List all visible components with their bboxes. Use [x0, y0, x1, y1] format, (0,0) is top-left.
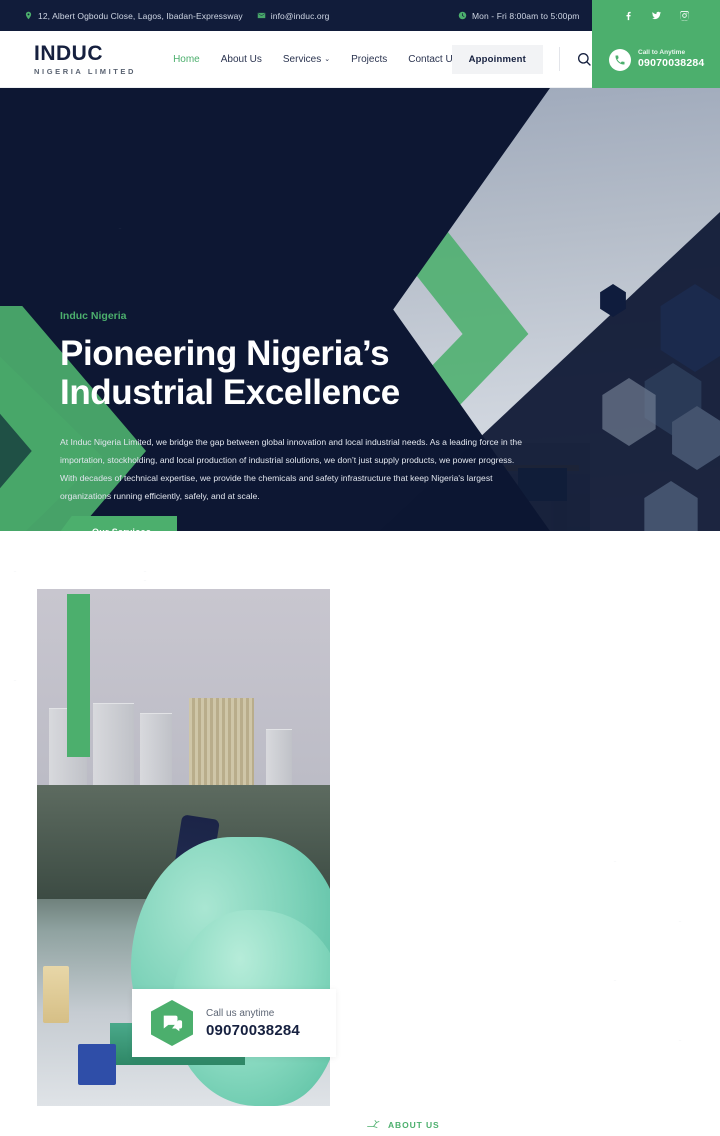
- hero-paragraph: At Induc Nigeria Limited, we bridge the …: [60, 434, 530, 505]
- site-logo[interactable]: INDUC NIGERIA LIMITED: [0, 43, 136, 76]
- address-text: 12, Albert Ogbodu Close, Lagos, Ibadan-E…: [38, 11, 243, 21]
- facebook-icon[interactable]: [623, 10, 634, 21]
- call-us-card[interactable]: Call us anytime 09070038284: [132, 989, 336, 1057]
- hero-title-line-1: Pioneering Nigeria’s: [60, 334, 530, 373]
- map-pin-icon: [24, 11, 33, 20]
- nav-actions: Appoinment: [452, 45, 592, 74]
- nav-item-contact-us[interactable]: Contact Us: [408, 54, 457, 65]
- main-navbar: INDUC NIGERIA LIMITED Home About Us Serv…: [0, 31, 720, 88]
- about-text-column: ABOUT US Pioneering Nigeria’s Industrial…: [367, 1119, 667, 1136]
- flask-line-icon: [367, 1119, 381, 1130]
- nav-item-services[interactable]: Services ⌄: [283, 54, 330, 65]
- call-card-text: Call us anytime 09070038284: [206, 1008, 300, 1039]
- hero-section: Induc Nigeria Pioneering Nigeria’s Indus…: [0, 88, 720, 531]
- envelope-icon: [257, 11, 266, 20]
- email-text: info@induc.org: [271, 11, 330, 21]
- call-card-label: Call us anytime: [206, 1008, 300, 1019]
- our-services-button[interactable]: Our Services: [60, 516, 177, 531]
- about-eyebrow: ABOUT US: [367, 1119, 667, 1130]
- nav-label: Home: [173, 54, 200, 65]
- search-icon[interactable]: [576, 51, 592, 67]
- instagram-icon[interactable]: [679, 10, 690, 21]
- chevron-down-icon: ⌄: [324, 56, 330, 63]
- nav-item-home[interactable]: Home: [173, 54, 200, 65]
- nav-call-text: Call to Anytime 09070038284: [638, 49, 704, 70]
- top-bar-contact-group: 12, Albert Ogbodu Close, Lagos, Ibadan-E…: [0, 11, 329, 21]
- hero-title-line-2: Industrial Excellence: [60, 373, 530, 412]
- top-bar-hours: Mon - Fri 8:00am to 5:00pm: [458, 11, 579, 21]
- hero-title: Pioneering Nigeria’s Industrial Excellen…: [60, 334, 530, 412]
- hero-eyebrow: Induc Nigeria: [60, 310, 530, 322]
- nav-label: Projects: [351, 54, 387, 65]
- nav-menu: Home About Us Services ⌄ Projects Contac…: [173, 54, 458, 65]
- top-bar: 12, Albert Ogbodu Close, Lagos, Ibadan-E…: [0, 0, 720, 31]
- nav-label: Services: [283, 54, 321, 65]
- nav-divider: [559, 47, 560, 71]
- twitter-icon[interactable]: [651, 10, 662, 21]
- top-bar-address: 12, Albert Ogbodu Close, Lagos, Ibadan-E…: [24, 11, 243, 21]
- about-eyebrow-text: ABOUT US: [388, 1120, 440, 1130]
- social-links: [592, 0, 720, 31]
- clock-icon: [458, 11, 467, 20]
- chat-bubble-icon: [151, 1000, 193, 1046]
- appointment-button[interactable]: Appoinment: [452, 45, 543, 74]
- image-green-accent-bar: [67, 594, 90, 757]
- call-card-number: 09070038284: [206, 1022, 300, 1039]
- hours-text: Mon - Fri 8:00am to 5:00pm: [472, 11, 579, 21]
- page-root: 12, Albert Ogbodu Close, Lagos, Ibadan-E…: [0, 0, 720, 1136]
- nav-label: Contact Us: [408, 54, 457, 65]
- top-bar-email[interactable]: info@induc.org: [257, 11, 330, 21]
- hero-content: Induc Nigeria Pioneering Nigeria’s Indus…: [60, 310, 530, 506]
- phone-icon: [609, 49, 631, 71]
- call-label: Call to Anytime: [638, 49, 704, 57]
- nav-item-projects[interactable]: Projects: [351, 54, 387, 65]
- nav-item-about-us[interactable]: About Us: [221, 54, 262, 65]
- call-number: 09070038284: [638, 57, 704, 70]
- logo-wordmark: INDUC: [34, 43, 136, 64]
- nav-label: About Us: [221, 54, 262, 65]
- nav-call-block[interactable]: Call to Anytime 09070038284: [592, 31, 720, 88]
- logo-tagline: NIGERIA LIMITED: [34, 68, 136, 76]
